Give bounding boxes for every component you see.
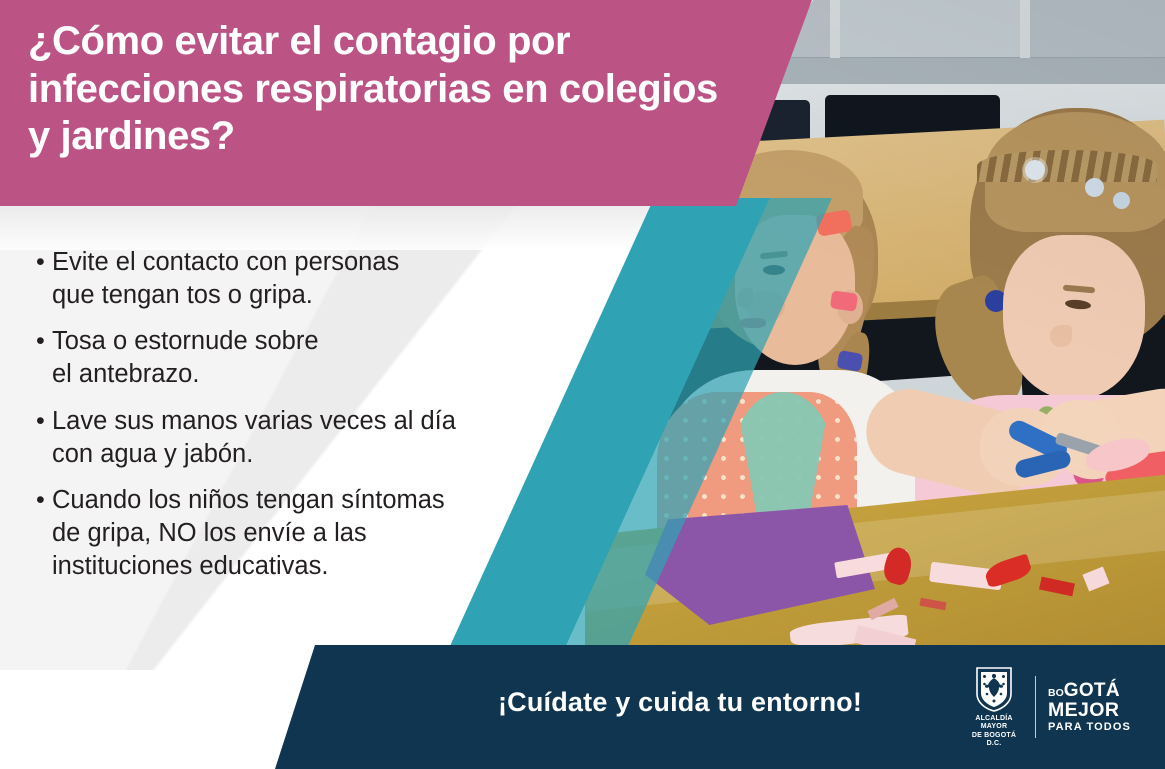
bogota-mejor-para-todos-slogan: BOGOTÁ MEJOR PARA TODOS	[1048, 682, 1131, 733]
slogan-line-1: GOTÁ	[1064, 680, 1120, 701]
list-item-label: Tosa o estornude sobre el antebrazo.	[52, 325, 319, 391]
list-item: • Evite el contacto con personas que ten…	[36, 246, 556, 312]
alcaldia-caption-line1: ALCALDÍA MAYOR	[965, 715, 1023, 732]
page-title: ¿Cómo evitar el contagio por infecciones…	[28, 18, 748, 161]
call-to-action-text: ¡Cuídate y cuida tu entorno!	[370, 687, 990, 718]
recommendations-list: • Evite el contacto con personas que ten…	[36, 246, 556, 596]
bullet-icon: •	[36, 405, 52, 471]
header-banner: ¿Cómo evitar el contagio por infecciones…	[0, 0, 820, 206]
list-item: • Lave sus manos varias veces al día con…	[36, 405, 556, 471]
infographic-poster: ¿Cómo evitar el contagio por infecciones…	[0, 0, 1165, 769]
alcaldia-caption-line2: DE BOGOTÁ D.C.	[965, 732, 1023, 749]
slogan-line-3: PARA TODOS	[1048, 722, 1131, 733]
list-item: • Cuando los niños tengan síntomas de gr…	[36, 484, 556, 583]
list-item: • Tosa o estornude sobre el antebrazo.	[36, 325, 556, 391]
bullet-icon: •	[36, 246, 52, 312]
list-item-label: Lave sus manos varias veces al día con a…	[52, 405, 456, 471]
slogan-prefix: BO	[1048, 687, 1064, 699]
brand-divider	[1035, 676, 1036, 738]
slogan-row-1: BOGOTÁ	[1048, 682, 1131, 700]
bullet-icon: •	[36, 484, 52, 583]
footer-banner: ¡Cuídate y cuida tu entorno!	[275, 645, 1165, 769]
alcaldia-caption: ALCALDÍA MAYOR DE BOGOTÁ D.C.	[965, 715, 1023, 748]
alcaldia-mayor-logo: ALCALDÍA MAYOR DE BOGOTÁ D.C.	[965, 666, 1023, 748]
bogota-coat-of-arms-icon	[974, 666, 1014, 712]
list-item-label: Cuando los niños tengan síntomas de grip…	[52, 484, 445, 583]
slogan-line-2: MEJOR	[1048, 701, 1131, 720]
bogota-brand-lockup: ALCALDÍA MAYOR DE BOGOTÁ D.C. BOGOTÁ MEJ…	[965, 661, 1155, 753]
list-item-label: Evite el contacto con personas que tenga…	[52, 246, 399, 312]
bullet-icon: •	[36, 325, 52, 391]
